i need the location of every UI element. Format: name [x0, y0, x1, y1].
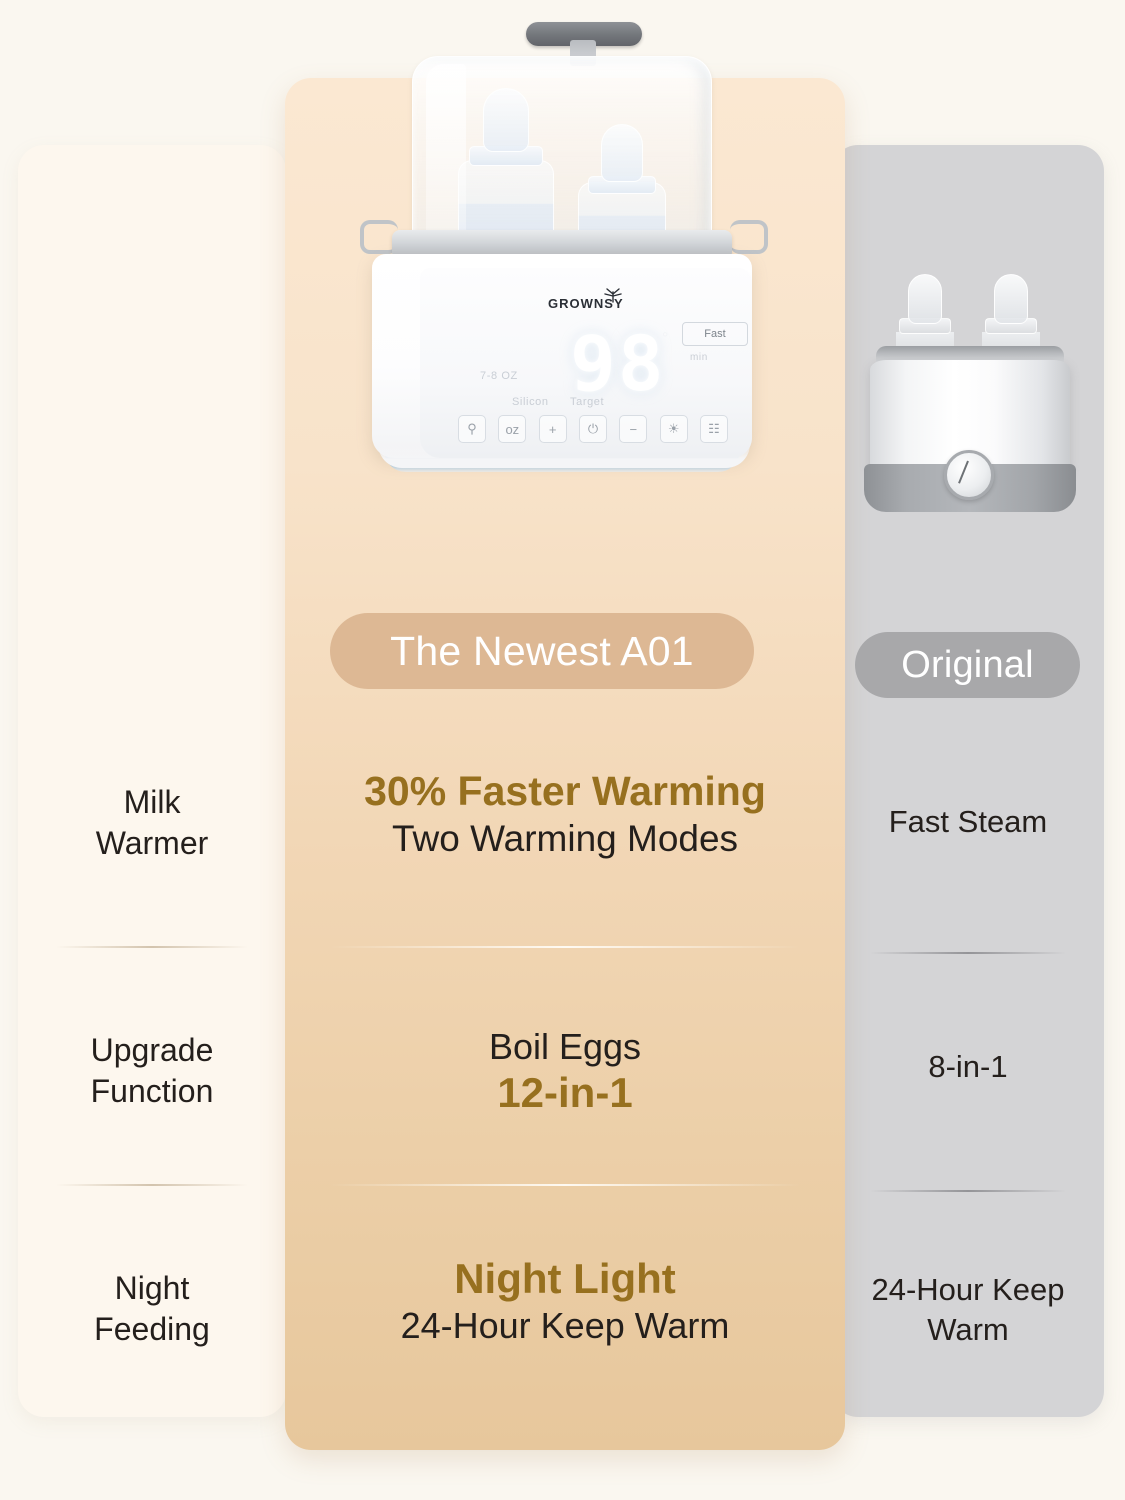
feature-value-right-row2: 8-in-1	[832, 1047, 1104, 1087]
feature-value-right-row1: Fast Steam	[832, 802, 1104, 842]
row2-highlight: 12-in-1	[285, 1068, 845, 1118]
row1-highlight: 30% Faster Warming	[285, 768, 845, 816]
grid-icon[interactable]: ☷	[700, 415, 728, 443]
cover-highlight-icon	[426, 64, 466, 246]
divider-right-1	[870, 952, 1066, 954]
oz-icon[interactable]: oz	[498, 415, 526, 443]
dial-knob-icon[interactable]	[944, 450, 994, 500]
bottle-nipple-icon	[483, 88, 529, 152]
degree-symbol: °	[662, 330, 668, 348]
control-button-row: ⚲ oz + ⏻ − ☀ ☷	[458, 414, 728, 444]
badge-original: Original	[855, 632, 1080, 698]
row3-subtext: 24-Hour Keep Warm	[285, 1304, 845, 1349]
divider-center-2	[330, 1184, 800, 1186]
volume-label: 7-8 OZ	[480, 370, 518, 382]
divider-center-1	[330, 946, 800, 948]
product-image-a01: GROWNSY 98 ° Fast 7-8 OZ Silicon Target …	[330, 8, 800, 568]
tray-rail-right-icon	[730, 220, 768, 254]
row3-highlight: Night Light	[285, 1254, 845, 1304]
power-icon[interactable]: ⏻	[579, 415, 607, 443]
minutes-label: min	[690, 352, 708, 363]
divider-right-2	[870, 1190, 1066, 1192]
row2-subtext: Boil Eggs	[285, 1026, 845, 1068]
feature-value-right-row3: 24-Hour Keep Warm	[832, 1270, 1104, 1349]
product-image-original	[860, 268, 1080, 532]
fast-mode-chip[interactable]: Fast	[682, 322, 748, 346]
target-label: Target	[570, 396, 604, 408]
row1-subtext: Two Warming Modes	[285, 816, 845, 862]
bottle-nipple-icon	[601, 124, 643, 182]
badge-newest-a01: The Newest A01	[330, 613, 754, 689]
temperature-display: 98	[570, 326, 666, 402]
plus-icon[interactable]: +	[539, 415, 567, 443]
divider-left-1	[56, 946, 248, 948]
bottle-icon[interactable]: ⚲	[458, 415, 486, 443]
divider-left-2	[56, 1184, 248, 1186]
feature-value-center-row2: Boil Eggs 12-in-1	[285, 1026, 845, 1118]
feature-label-night-feeding: Night Feeding	[18, 1268, 286, 1350]
feature-value-center-row1: 30% Faster Warming Two Warming Modes	[285, 768, 845, 861]
bottle-nipple-icon	[994, 274, 1028, 324]
minus-icon[interactable]: −	[619, 415, 647, 443]
bulb-icon[interactable]: ☀	[660, 415, 688, 443]
feature-label-upgrade-function: Upgrade Function	[18, 1030, 286, 1112]
feature-value-center-row3: Night Light 24-Hour Keep Warm	[285, 1254, 845, 1348]
feature-label-milk-warmer: Milk Warmer	[18, 782, 286, 864]
comparison-infographic: GROWNSY 98 ° Fast 7-8 OZ Silicon Target …	[0, 0, 1125, 1500]
feature-label-panel	[18, 145, 286, 1417]
material-label: Silicon	[512, 396, 549, 408]
brand-spark-icon	[602, 286, 624, 304]
bottle-nipple-icon	[908, 274, 942, 324]
